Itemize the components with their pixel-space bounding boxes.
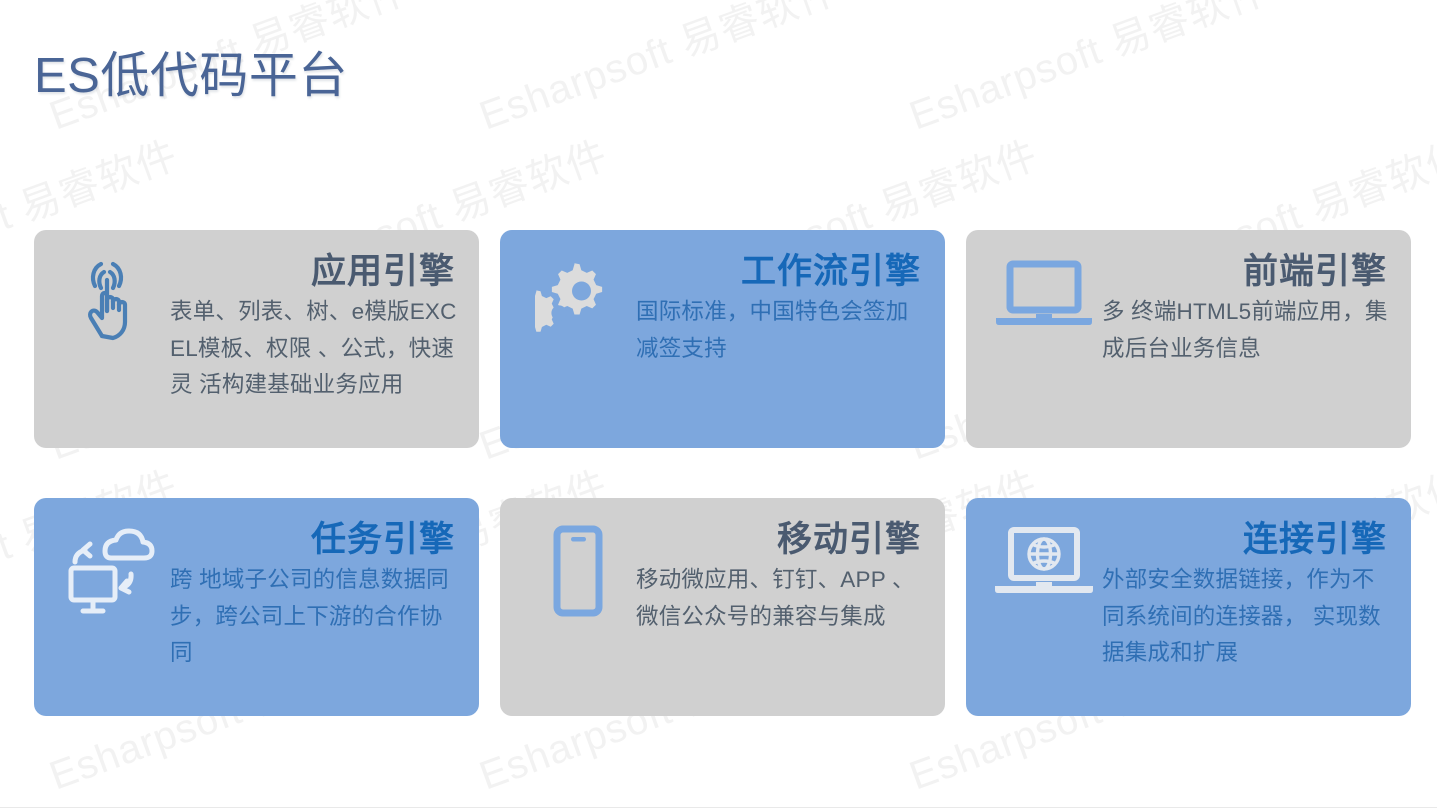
card-description: 表单、列表、树、e模版EXC EL模板、权限 、公式，快速灵 活构建基础业务应用 [170, 294, 459, 403]
feature-card-frontend-engine[interactable]: 前端引擎 多 终端HTML5前端应用，集成后台业务信息 [966, 230, 1411, 448]
card-title: 连接引擎 [1102, 520, 1387, 560]
feature-card-workflow-engine[interactable]: 工作流引擎 国际标准，中国特色会签加减签支持 [500, 230, 945, 448]
slide-canvas: Esharpsoft 易睿软件Esharpsoft 易睿软件Esharpsoft… [0, 0, 1437, 808]
laptop-globe-icon [984, 516, 1104, 626]
card-description: 多 终端HTML5前端应用，集成后台业务信息 [1102, 294, 1391, 367]
smartphone-icon [518, 516, 638, 626]
page-title: ES低代码平台 [34, 47, 348, 106]
cloud-sync-monitor-icon [52, 516, 172, 626]
card-description: 跨 地域子公司的信息数据同步，跨公司上下游的合作协同 [170, 562, 459, 671]
feature-card-app-engine[interactable]: 应用引擎 表单、列表、树、e模版EXC EL模板、权限 、公式，快速灵 活构建基… [34, 230, 479, 448]
feature-card-task-engine[interactable]: 任务引擎 跨 地域子公司的信息数据同步，跨公司上下游的合作协同 [34, 498, 479, 716]
card-title: 前端引擎 [1102, 252, 1387, 292]
card-title: 移动引擎 [636, 520, 921, 560]
laptop-icon [984, 248, 1104, 358]
card-description: 外部安全数据链接，作为不同系统间的连接器， 实现数据集成和扩展 [1102, 562, 1391, 671]
card-title: 工作流引擎 [636, 252, 921, 292]
card-title: 应用引擎 [170, 252, 455, 292]
feature-card-grid: 应用引擎 表单、列表、树、e模版EXC EL模板、权限 、公式，快速灵 活构建基… [34, 230, 1406, 716]
feature-card-connect-engine[interactable]: 连接引擎 外部安全数据链接，作为不同系统间的连接器， 实现数据集成和扩展 [966, 498, 1411, 716]
card-title: 任务引擎 [170, 520, 455, 560]
watermark-text: Esharpsoft 易睿软件 [470, 0, 844, 141]
watermark-text: Esharpsoft 易睿软件 [900, 0, 1274, 141]
touch-hand-icon [52, 248, 172, 358]
card-description: 移动微应用、钉钉、APP 、微信公众号的兼容与集成 [636, 562, 925, 635]
gears-icon [518, 248, 638, 358]
card-description: 国际标准，中国特色会签加减签支持 [636, 294, 925, 367]
feature-card-mobile-engine[interactable]: 移动引擎 移动微应用、钉钉、APP 、微信公众号的兼容与集成 [500, 498, 945, 716]
